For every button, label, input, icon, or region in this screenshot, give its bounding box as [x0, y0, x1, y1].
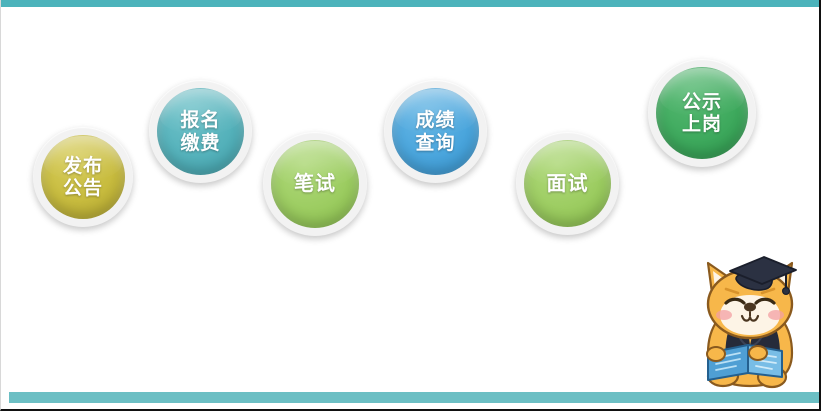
flow-step-disc: 报名 缴费: [157, 88, 244, 175]
fox-right-blush: [768, 310, 784, 320]
fox-left-blush: [716, 310, 732, 320]
flow-step-disc: 面试: [524, 140, 611, 227]
flow-step-label: 发布 公告: [63, 155, 103, 200]
fox-right-paw: [749, 346, 767, 360]
top-accent-bar: [0, 0, 821, 7]
slide-canvas: 发布 公告 报名 缴费 笔试 成绩 查询 面试 公示 上岗: [0, 0, 821, 411]
flow-step-publicity-onboarding[interactable]: 公示 上岗: [648, 59, 756, 167]
flow-step-written-exam[interactable]: 笔试: [263, 132, 367, 236]
fox-left-paw: [707, 347, 725, 361]
flow-step-disc: 笔试: [271, 140, 359, 228]
flow-step-label: 报名 缴费: [180, 109, 220, 154]
flow-step-disc: 公示 上岗: [656, 67, 748, 159]
flow-step-label: 面试: [547, 172, 589, 196]
flow-step-label: 公示 上岗: [682, 91, 722, 136]
bottom-accent-bar: [9, 392, 821, 403]
flow-step-disc: 发布 公告: [41, 135, 125, 219]
flow-step-label: 笔试: [294, 172, 336, 196]
flow-step-disc: 成绩 查询: [392, 88, 479, 175]
fox-nose: [744, 303, 756, 312]
flow-step-score-query[interactable]: 成绩 查询: [384, 80, 487, 183]
flow-step-publish-announcement[interactable]: 发布 公告: [33, 127, 133, 227]
fox-graduate-mascot-icon: [686, 249, 814, 392]
flow-step-interview[interactable]: 面试: [516, 132, 619, 235]
flow-step-register-payment[interactable]: 报名 缴费: [149, 80, 252, 183]
flow-step-label: 成绩 查询: [415, 109, 455, 154]
